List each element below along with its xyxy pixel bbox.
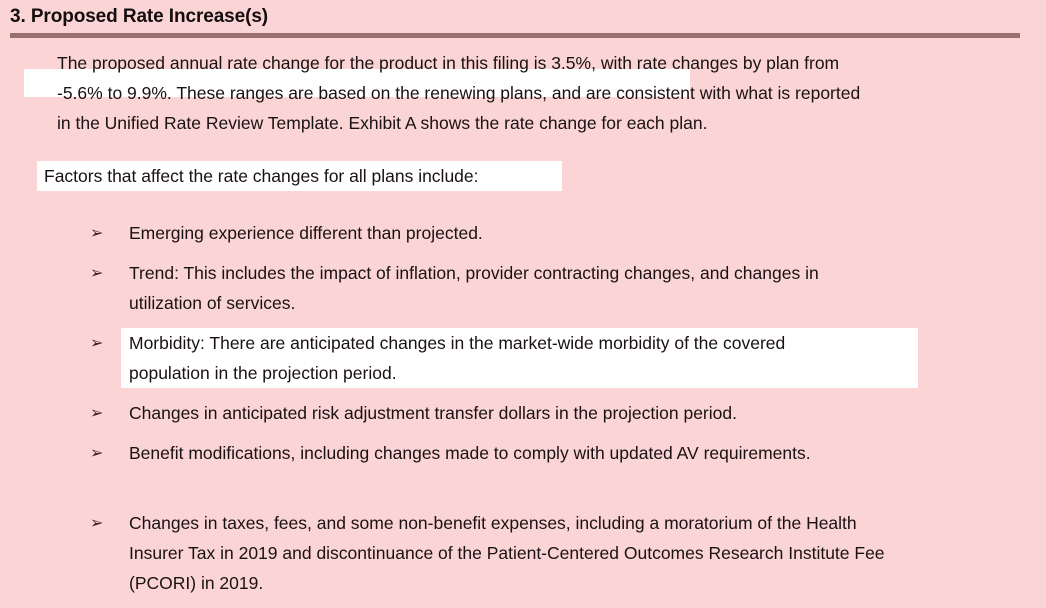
bullet-item-trend: ➢Trend: This includes the impact of infl… (0, 258, 1046, 318)
arrowhead-bullet-icon: ➢ (90, 398, 114, 428)
heading-divider (10, 33, 1020, 38)
bullet-line: Changes in anticipated risk adjustment t… (129, 398, 1006, 428)
bullet-text-benefit-modifications: Benefit modifications, including changes… (129, 438, 1006, 468)
intro-line-3: in the Unified Rate Review Template. Exh… (57, 108, 986, 138)
arrowhead-bullet-icon: ➢ (90, 508, 114, 538)
bullet-text-trend: Trend: This includes the impact of infla… (129, 258, 1006, 318)
document-body: The proposed annual rate change for the … (0, 48, 1046, 608)
intro-line-1-highlighted-run: The proposed annual rate change for the … (57, 53, 596, 73)
bullet-line: utilization of services. (129, 288, 1006, 318)
factors-intro: Factors that affect the rate changes for… (0, 161, 1046, 194)
bullet-item-benefit-modifications: ➢Benefit modifications, including change… (0, 438, 1046, 468)
arrowhead-bullet-icon: ➢ (90, 438, 114, 468)
intro-line-1-remainder: with rate changes by plan from (596, 53, 839, 73)
intro-line-2: -5.6% to 9.9%. These ranges are based on… (57, 78, 986, 108)
arrowhead-bullet-icon: ➢ (90, 218, 114, 248)
bullet-text-morbidity: Morbidity: There are anticipated changes… (129, 328, 1006, 388)
bullet-item-morbidity: ➢Morbidity: There are anticipated change… (0, 328, 1046, 388)
bullet-line: Emerging experience different than proje… (129, 218, 1006, 248)
arrowhead-bullet-icon: ➢ (90, 328, 114, 358)
page-title: 3. Proposed Rate Increase(s) (10, 6, 268, 28)
bullet-text-taxes-fees: Changes in taxes, fees, and some non-ben… (129, 508, 1006, 598)
bullet-item-taxes-fees: ➢Changes in taxes, fees, and some non-be… (0, 508, 1046, 598)
bullet-line: Morbidity: There are anticipated changes… (129, 328, 1006, 358)
intro-paragraph: The proposed annual rate change for the … (0, 48, 1046, 138)
bullet-text-risk-adjustment: Changes in anticipated risk adjustment t… (129, 398, 1006, 428)
bullet-line: population in the projection period. (129, 358, 1006, 388)
factors-intro-text: Factors that affect the rate changes for… (44, 163, 479, 189)
arrowhead-bullet-icon: ➢ (90, 258, 114, 288)
bullet-line: Benefit modifications, including changes… (129, 438, 1006, 468)
bullet-text-emerging-experience: Emerging experience different than proje… (129, 218, 1006, 248)
bullet-line: Changes in taxes, fees, and some non-ben… (129, 508, 1006, 538)
bullet-item-emerging-experience: ➢Emerging experience different than proj… (0, 218, 1046, 248)
bullet-line: Trend: This includes the impact of infla… (129, 258, 1006, 288)
factors-bullet-list: ➢Emerging experience different than proj… (0, 218, 1046, 598)
bullet-line: (PCORI) in 2019. (129, 568, 1006, 598)
bullet-line: Insurer Tax in 2019 and discontinuance o… (129, 538, 1006, 568)
bullet-item-risk-adjustment: ➢Changes in anticipated risk adjustment … (0, 398, 1046, 428)
